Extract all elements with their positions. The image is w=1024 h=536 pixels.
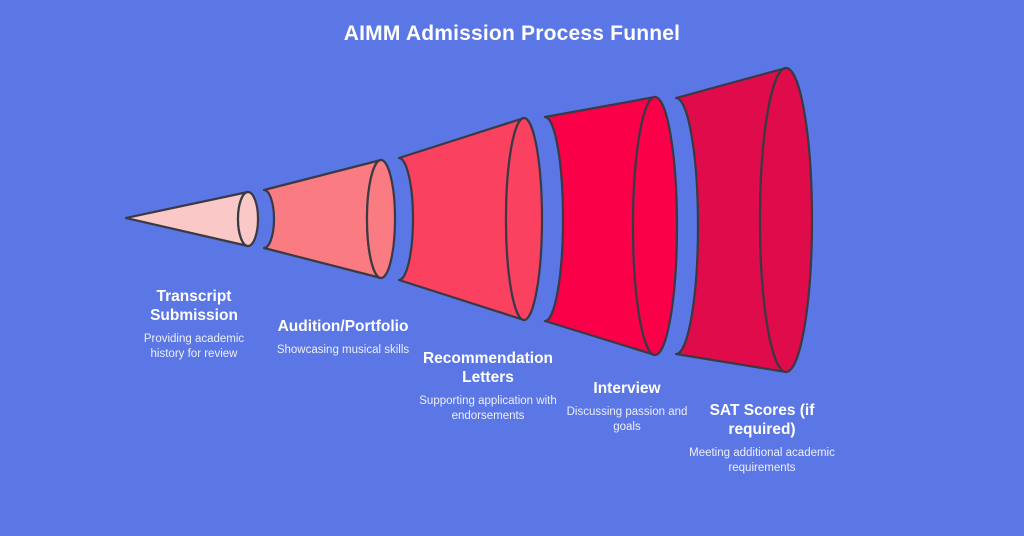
funnel-segment-5-cap — [760, 68, 812, 372]
funnel-label-sat-scores[interactable]: SAT Scores (if required) Meeting additio… — [688, 402, 836, 476]
funnel-label-title: Recommendation Letters — [408, 350, 568, 388]
funnel-label-transcript-submission[interactable]: Transcript Submission Providing academic… — [128, 288, 260, 362]
funnel-label-title: SAT Scores (if required) — [688, 402, 836, 440]
funnel-graphic — [0, 0, 1024, 536]
funnel-label-interview[interactable]: Interview Discussing passion and goals — [552, 380, 702, 435]
funnel-diagram-canvas: AIMM Admission Process Funnel Trans — [0, 0, 1024, 536]
funnel-segment-3-cap — [506, 118, 542, 320]
funnel-segment-1-cap — [238, 192, 258, 246]
funnel-segment-2-body — [264, 160, 381, 278]
funnel-segment-1[interactable] — [126, 192, 258, 246]
funnel-segment-4[interactable] — [545, 97, 677, 355]
funnel-segment-2-cap — [367, 160, 395, 278]
funnel-segment-3[interactable] — [399, 118, 542, 320]
funnel-label-description: Showcasing musical skills — [268, 343, 418, 358]
funnel-label-title: Audition/Portfolio — [268, 318, 418, 337]
funnel-segment-2[interactable] — [264, 160, 395, 278]
funnel-label-description: Discussing passion and goals — [552, 405, 702, 435]
funnel-label-title: Interview — [552, 380, 702, 399]
funnel-label-title: Transcript Submission — [128, 288, 260, 326]
funnel-label-description: Meeting additional academic requirements — [688, 446, 836, 476]
funnel-label-recommendation-letters[interactable]: Recommendation Letters Supporting applic… — [408, 350, 568, 424]
funnel-label-audition-portfolio[interactable]: Audition/Portfolio Showcasing musical sk… — [268, 318, 418, 358]
funnel-label-description: Providing academic history for review — [128, 332, 260, 362]
funnel-label-description: Supporting application with endorsements — [408, 394, 568, 424]
funnel-segment-1-body — [126, 192, 248, 246]
funnel-segment-5[interactable] — [676, 68, 812, 372]
funnel-segment-4-cap — [633, 97, 677, 355]
